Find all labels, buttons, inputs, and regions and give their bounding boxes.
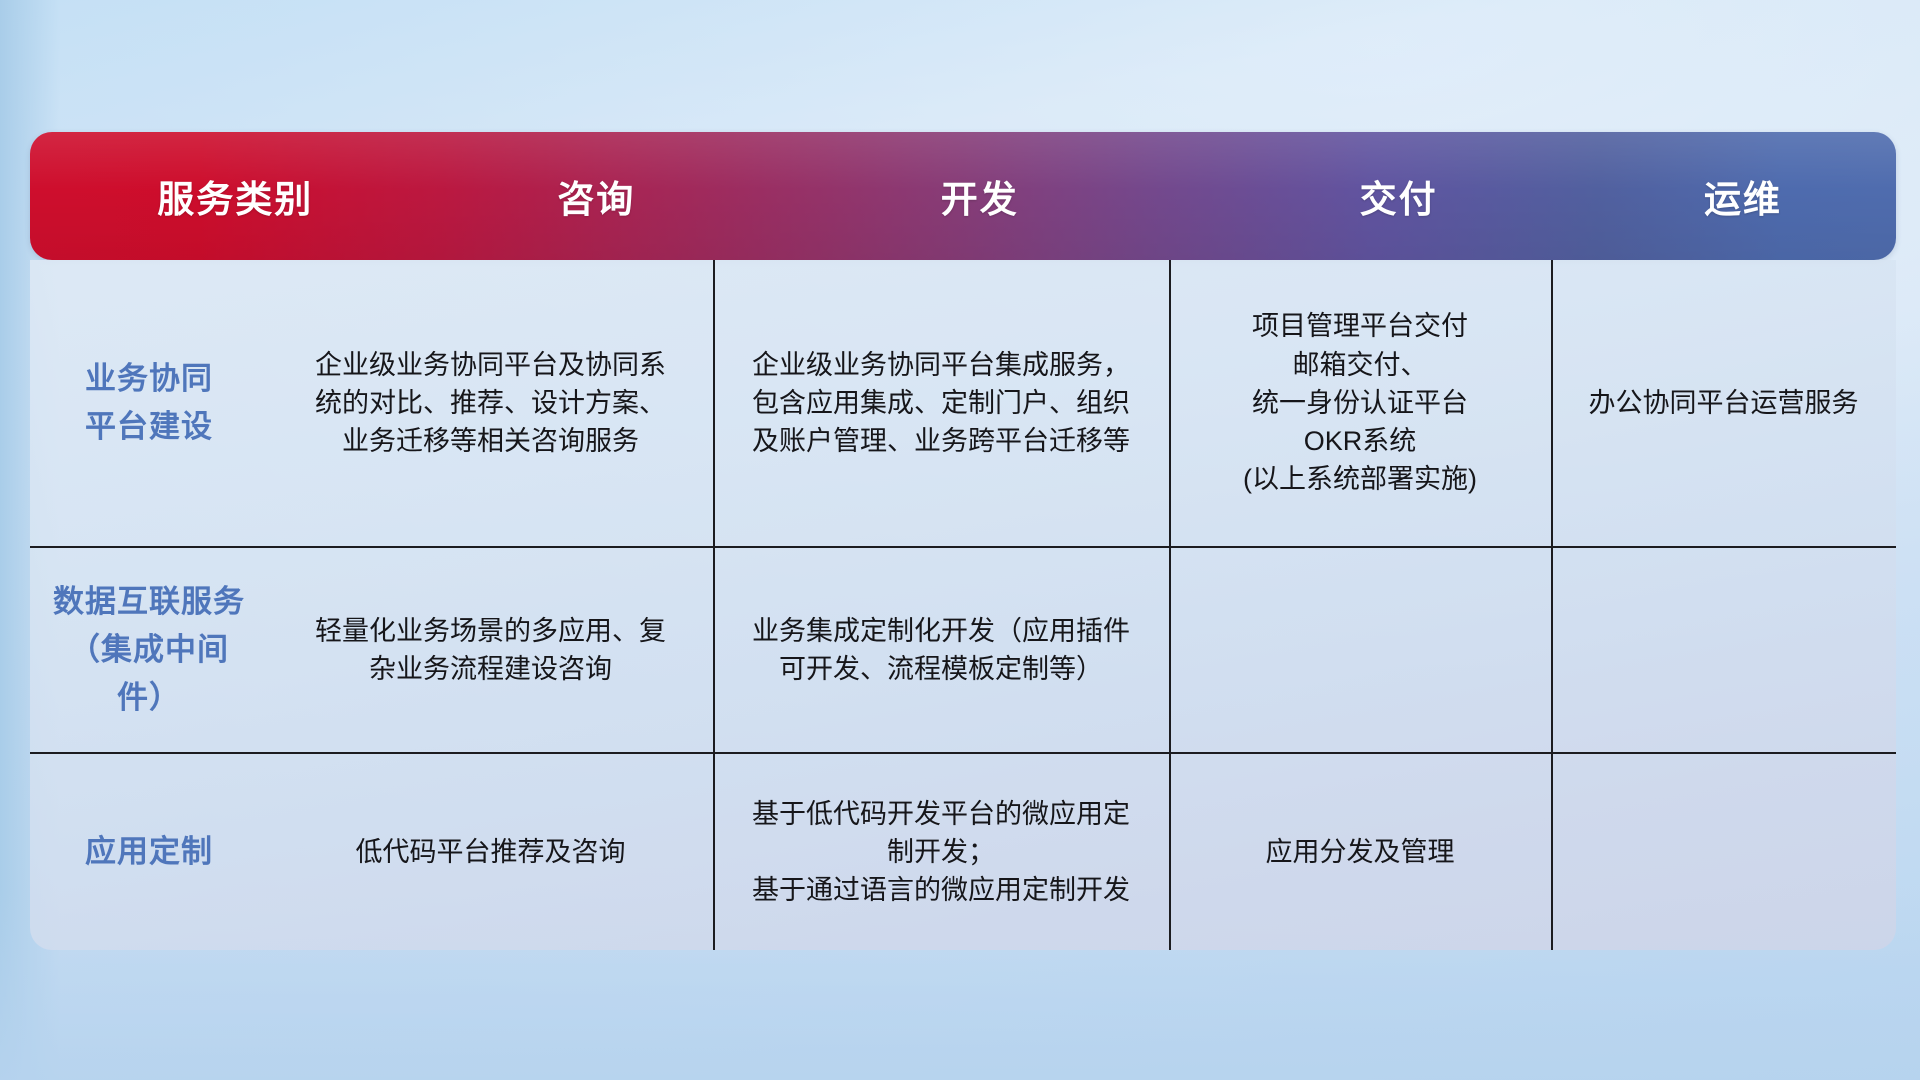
table-body: 业务协同 平台建设 企业级业务协同平台及协同系 统的对比、推荐、设计方案、 业务… [30, 260, 1896, 950]
cell-consulting-r2: 轻量化业务场景的多应用、复 杂业务流程建设咨询 [268, 612, 713, 689]
table-header-row: 服务类别 咨询 开发 交付 运维 [30, 132, 1896, 260]
row-label-data-integration: 数据互联服务 （集成中间件） [30, 578, 268, 722]
column-header-delivery: 交付 [1207, 169, 1590, 223]
cell-operations-r1: 办公协同平台运营服务 [1551, 384, 1896, 422]
service-matrix-table: 服务类别 咨询 开发 交付 运维 业务协同 平台建设 企业级业务协同平台及协同系… [30, 132, 1896, 950]
cell-consulting-r1: 企业级业务协同平台及协同系 统的对比、推荐、设计方案、 业务迁移等相关咨询服务 [268, 346, 713, 461]
cell-delivery-r3: 应用分发及管理 [1169, 833, 1551, 871]
row-label-app-customization: 应用定制 [30, 828, 268, 876]
column-header-development: 开发 [752, 169, 1207, 223]
row-label-business-collaboration: 业务协同 平台建设 [30, 355, 268, 451]
cell-delivery-r1: 项目管理平台交付 邮箱交付、 统一身份认证平台 OKR系统 (以上系统部署实施) [1169, 307, 1551, 499]
column-header-consulting: 咨询 [441, 169, 753, 223]
cell-development-r1: 企业级业务协同平台集成服务， 包含应用集成、定制门户、组织 及账户管理、业务跨平… [713, 346, 1169, 461]
cell-development-r3: 基于低代码开发平台的微应用定 制开发； 基于通过语言的微应用定制开发 [713, 795, 1169, 910]
table-row: 业务协同 平台建设 企业级业务协同平台及协同系 统的对比、推荐、设计方案、 业务… [30, 260, 1896, 546]
table-row: 应用定制 低代码平台推荐及咨询 基于低代码开发平台的微应用定 制开发； 基于通过… [30, 754, 1896, 950]
table-row: 数据互联服务 （集成中间件） 轻量化业务场景的多应用、复 杂业务流程建设咨询 业… [30, 548, 1896, 752]
column-header-operations: 运维 [1590, 169, 1896, 223]
cell-development-r2: 业务集成定制化开发（应用插件 可开发、流程模板定制等） [713, 612, 1169, 689]
cell-consulting-r3: 低代码平台推荐及咨询 [268, 833, 713, 871]
column-header-category: 服务类别 [30, 169, 441, 223]
